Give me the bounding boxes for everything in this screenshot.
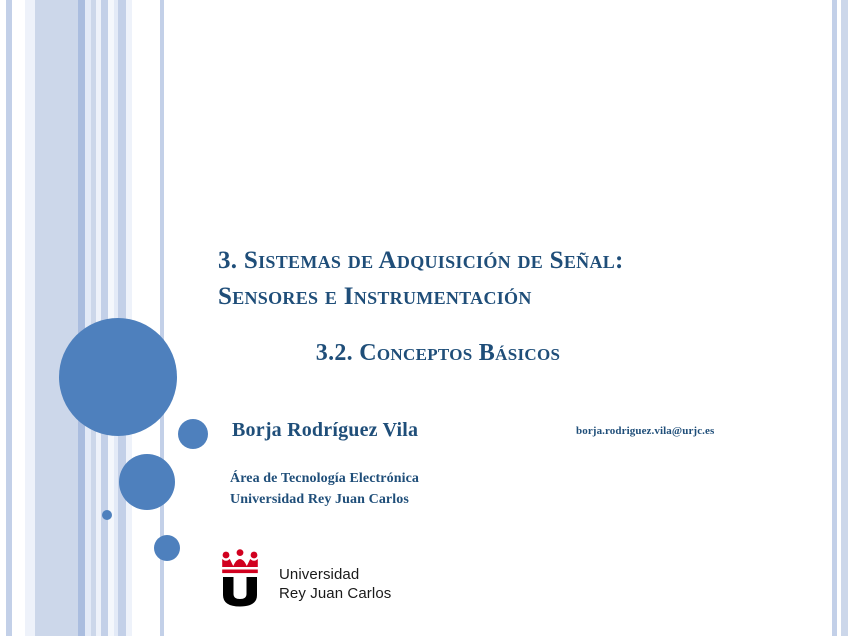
crown-dot-center <box>237 549 244 556</box>
urjc-logo-text: Universidad Rey Juan Carlos <box>279 565 391 603</box>
author-email[interactable]: borja.rodriguez.vila@urjc.es <box>576 425 714 437</box>
slide-title-line-2: Sensores e Instrumentación <box>218 283 532 310</box>
crown-dot-right <box>251 552 258 559</box>
urjc-logo-line-2: Rey Juan Carlos <box>279 584 391 603</box>
crown-dot-left <box>223 552 230 559</box>
affiliation-department: Área de Tecnología Electrónica <box>230 471 419 486</box>
slide-content: 3. Sistemas de Adquisición de Señal: Sen… <box>0 0 848 636</box>
slide-title-line-1: 3. Sistemas de Adquisición de Señal: <box>218 247 624 274</box>
affiliation: Área de Tecnología Electrónica Universid… <box>230 468 419 510</box>
urjc-logo: Universidad Rey Juan Carlos <box>219 549 394 611</box>
affiliation-university: Universidad Rey Juan Carlos <box>230 492 409 507</box>
slide-title: 3. Sistemas de Adquisición de Señal: Sen… <box>218 243 798 315</box>
urjc-logo-line-1: Universidad <box>279 565 391 584</box>
urjc-logo-mark <box>219 549 263 607</box>
author-name: Borja Rodríguez Vila <box>232 419 418 442</box>
letter-u <box>223 577 257 607</box>
presentation-slide: 3. Sistemas de Adquisición de Señal: Sen… <box>0 0 848 636</box>
crown-arches <box>222 559 258 567</box>
slide-subtitle: 3.2. Conceptos Básicos <box>218 340 798 367</box>
crown-base-bar <box>222 570 258 574</box>
